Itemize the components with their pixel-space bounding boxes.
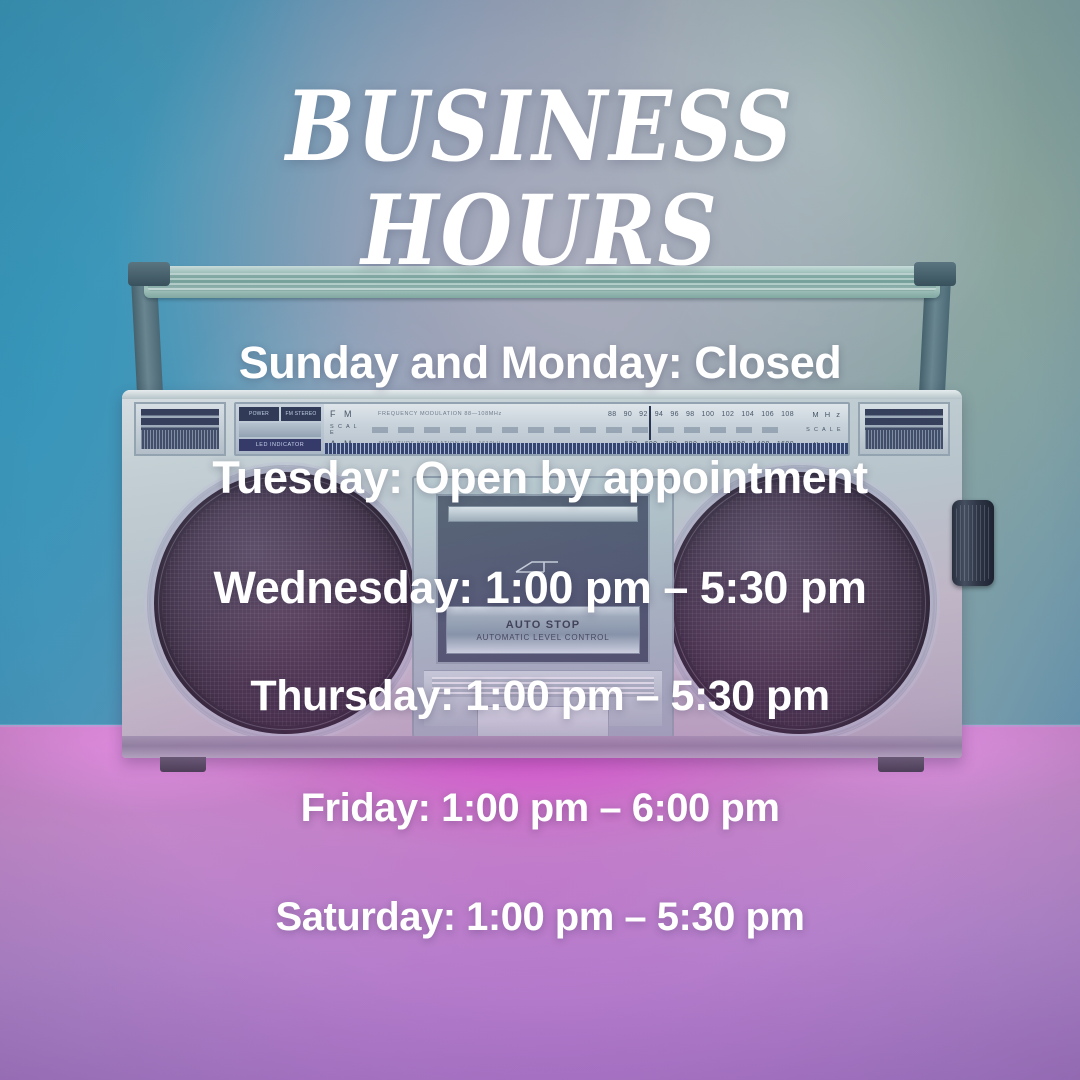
vent-mesh-left bbox=[141, 430, 219, 449]
vent-mesh-right bbox=[865, 430, 943, 449]
hours-row-tuesday: Tuesday: Open by appointment bbox=[0, 452, 1080, 504]
hours-row-friday: Friday: 1:00 pm – 6:00 pm bbox=[0, 786, 1080, 831]
business-hours-poster: POWER FM STEREO LED INDICATOR F M FREQUE… bbox=[0, 0, 1080, 1080]
hours-row-sunday-monday: Sunday and Monday: Closed bbox=[0, 337, 1080, 389]
poster-title-line-2: HOURS bbox=[0, 183, 1080, 280]
text-overlay: BUSINESS HOURS Sunday and Monday: Closed… bbox=[0, 0, 1080, 1080]
poster-title-line-1: BUSINESS bbox=[0, 79, 1080, 176]
hours-row-wednesday: Wednesday: 1:00 pm – 5:30 pm bbox=[0, 562, 1080, 614]
hours-row-thursday: Thursday: 1:00 pm – 5:30 pm bbox=[0, 672, 1080, 721]
hours-row-saturday: Saturday: 1:00 pm – 5:30 pm bbox=[0, 895, 1080, 940]
